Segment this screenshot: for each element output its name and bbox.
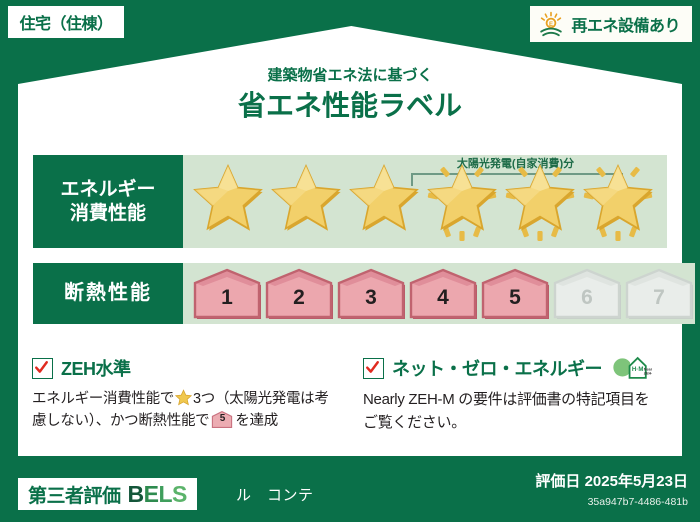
inline-house-badge-value: 5	[211, 414, 233, 424]
nearly-zeh-m-logo-icon: H·M Nearly ZEH-M	[610, 355, 652, 381]
feature-nze-body: Nearly ZEH-M の要件は評価書の特記項目をご覧ください。	[363, 388, 663, 435]
insulation-label: 断熱性能	[64, 281, 152, 306]
insulation-performance-row: 断熱性能 1234567	[33, 263, 667, 324]
renewable-energy-chip: E 再エネ設備あり	[530, 6, 692, 42]
bels-jp-label: 第三者評価	[28, 481, 121, 508]
evaluation-date: 評価日 2025年5月23日	[535, 470, 688, 491]
star-rating	[183, 158, 667, 246]
star-solar	[501, 158, 579, 246]
feature-nze-title: ネット・ゼロ・エネルギー	[392, 355, 602, 381]
star-base	[267, 158, 345, 246]
energy-performance-label: 住宅（住棟） E 再エネ設備あり 建築物省エネ法に基づく 省エネ性能ラベル	[0, 0, 700, 522]
feature-zeh-body-part1: エネルギー消費性能で	[32, 391, 174, 407]
energy-performance-label-box: エネルギー 消費性能	[33, 155, 183, 248]
energy-performance-row: エネルギー 消費性能 太陽光発電(自家消費)分	[33, 155, 667, 248]
label-title: 省エネ性能ラベル	[0, 84, 700, 124]
label-subtitle: 建築物省エネ法に基づく	[0, 64, 700, 85]
feature-zeh-body: エネルギー消費性能で 3つ（太陽光発電は考慮しない）、かつ断熱性能で 5 を達成	[32, 388, 332, 433]
energy-label-line1: エネルギー	[60, 178, 155, 202]
star-base	[189, 158, 267, 246]
insulation-level-scale: 1234567	[183, 266, 695, 322]
svg-text:H·M: H·M	[632, 366, 644, 373]
insulation-level-active: 5	[479, 266, 551, 322]
energy-label-line2: 消費性能	[70, 202, 146, 226]
solar-sun-icon: E	[538, 11, 564, 37]
bels-logo: BELS	[128, 481, 187, 508]
feature-zeh-header: ZEH水準	[32, 355, 332, 381]
bels-certification-chip: 第三者評価 BELS	[18, 478, 197, 510]
insulation-level-active: 2	[263, 266, 335, 322]
checkbox-checked-icon	[32, 358, 53, 379]
category-chip: 住宅（住棟）	[8, 6, 124, 38]
checkbox-checked-icon	[363, 358, 384, 379]
feature-zeh-level: ZEH水準 エネルギー消費性能で 3つ（太陽光発電は考慮しない）、かつ断熱性能で…	[32, 355, 332, 433]
insulation-level-active: 4	[407, 266, 479, 322]
feature-nze-header: ネット・ゼロ・エネルギー H·M Nearly ZEH-M	[363, 355, 663, 381]
feature-zeh-body-part2: を達成	[235, 413, 278, 429]
feature-zeh-title: ZEH水準	[61, 355, 131, 381]
star-solar	[579, 158, 657, 246]
inline-house-badge-icon: 5	[211, 411, 233, 428]
building-name: ル コンテ	[236, 484, 314, 505]
category-chip-label: 住宅（住棟）	[19, 10, 112, 34]
feature-net-zero-energy: ネット・ゼロ・エネルギー H·M Nearly ZEH-M Nearly ZEH…	[363, 355, 663, 435]
svg-text:E: E	[549, 22, 553, 28]
renewable-energy-chip-label: 再エネ設備あり	[571, 12, 680, 36]
star-solar	[423, 158, 501, 246]
insulation-level-inactive: 6	[551, 266, 623, 322]
insulation-level-active: 3	[335, 266, 407, 322]
insulation-level-active: 1	[191, 266, 263, 322]
insulation-performance-label-box: 断熱性能	[33, 263, 183, 324]
evaluation-id: 35a947b7-4486-481b	[588, 496, 688, 508]
star-base	[345, 158, 423, 246]
insulation-levels-band: 1234567	[183, 263, 695, 324]
svg-text:ZEH-M: ZEH-M	[644, 372, 652, 376]
inline-star-icon	[175, 389, 192, 406]
energy-stars-band: 太陽光発電(自家消費)分	[183, 155, 667, 248]
insulation-level-inactive: 7	[623, 266, 695, 322]
